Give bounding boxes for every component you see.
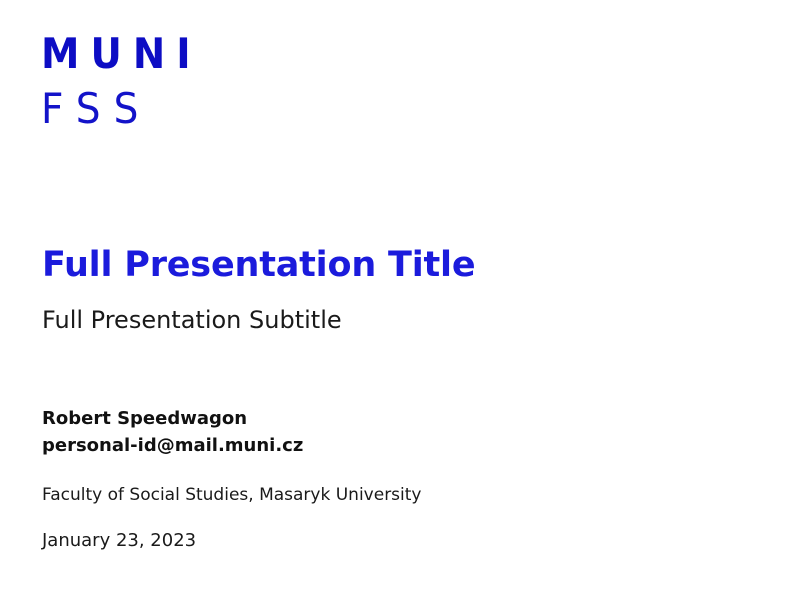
author-email: personal-id@mail.muni.cz	[42, 432, 303, 459]
presentation-title: Full Presentation Title	[42, 246, 475, 286]
author-name: Robert Speedwagon	[42, 405, 303, 432]
fss-wordmark: FSS	[41, 87, 203, 131]
muni-wordmark: MUNI	[41, 33, 202, 76]
presentation-subtitle: Full Presentation Subtitle	[42, 306, 342, 335]
title-slide: MUNI FSS Full Presentation Title Full Pr…	[0, 0, 794, 596]
author-block: Robert Speedwagon personal-id@mail.muni.…	[42, 405, 303, 460]
presentation-date: January 23, 2023	[42, 529, 196, 552]
author-affiliation: Faculty of Social Studies, Masaryk Unive…	[42, 484, 422, 506]
muni-fss-logo: MUNI FSS	[41, 33, 216, 131]
